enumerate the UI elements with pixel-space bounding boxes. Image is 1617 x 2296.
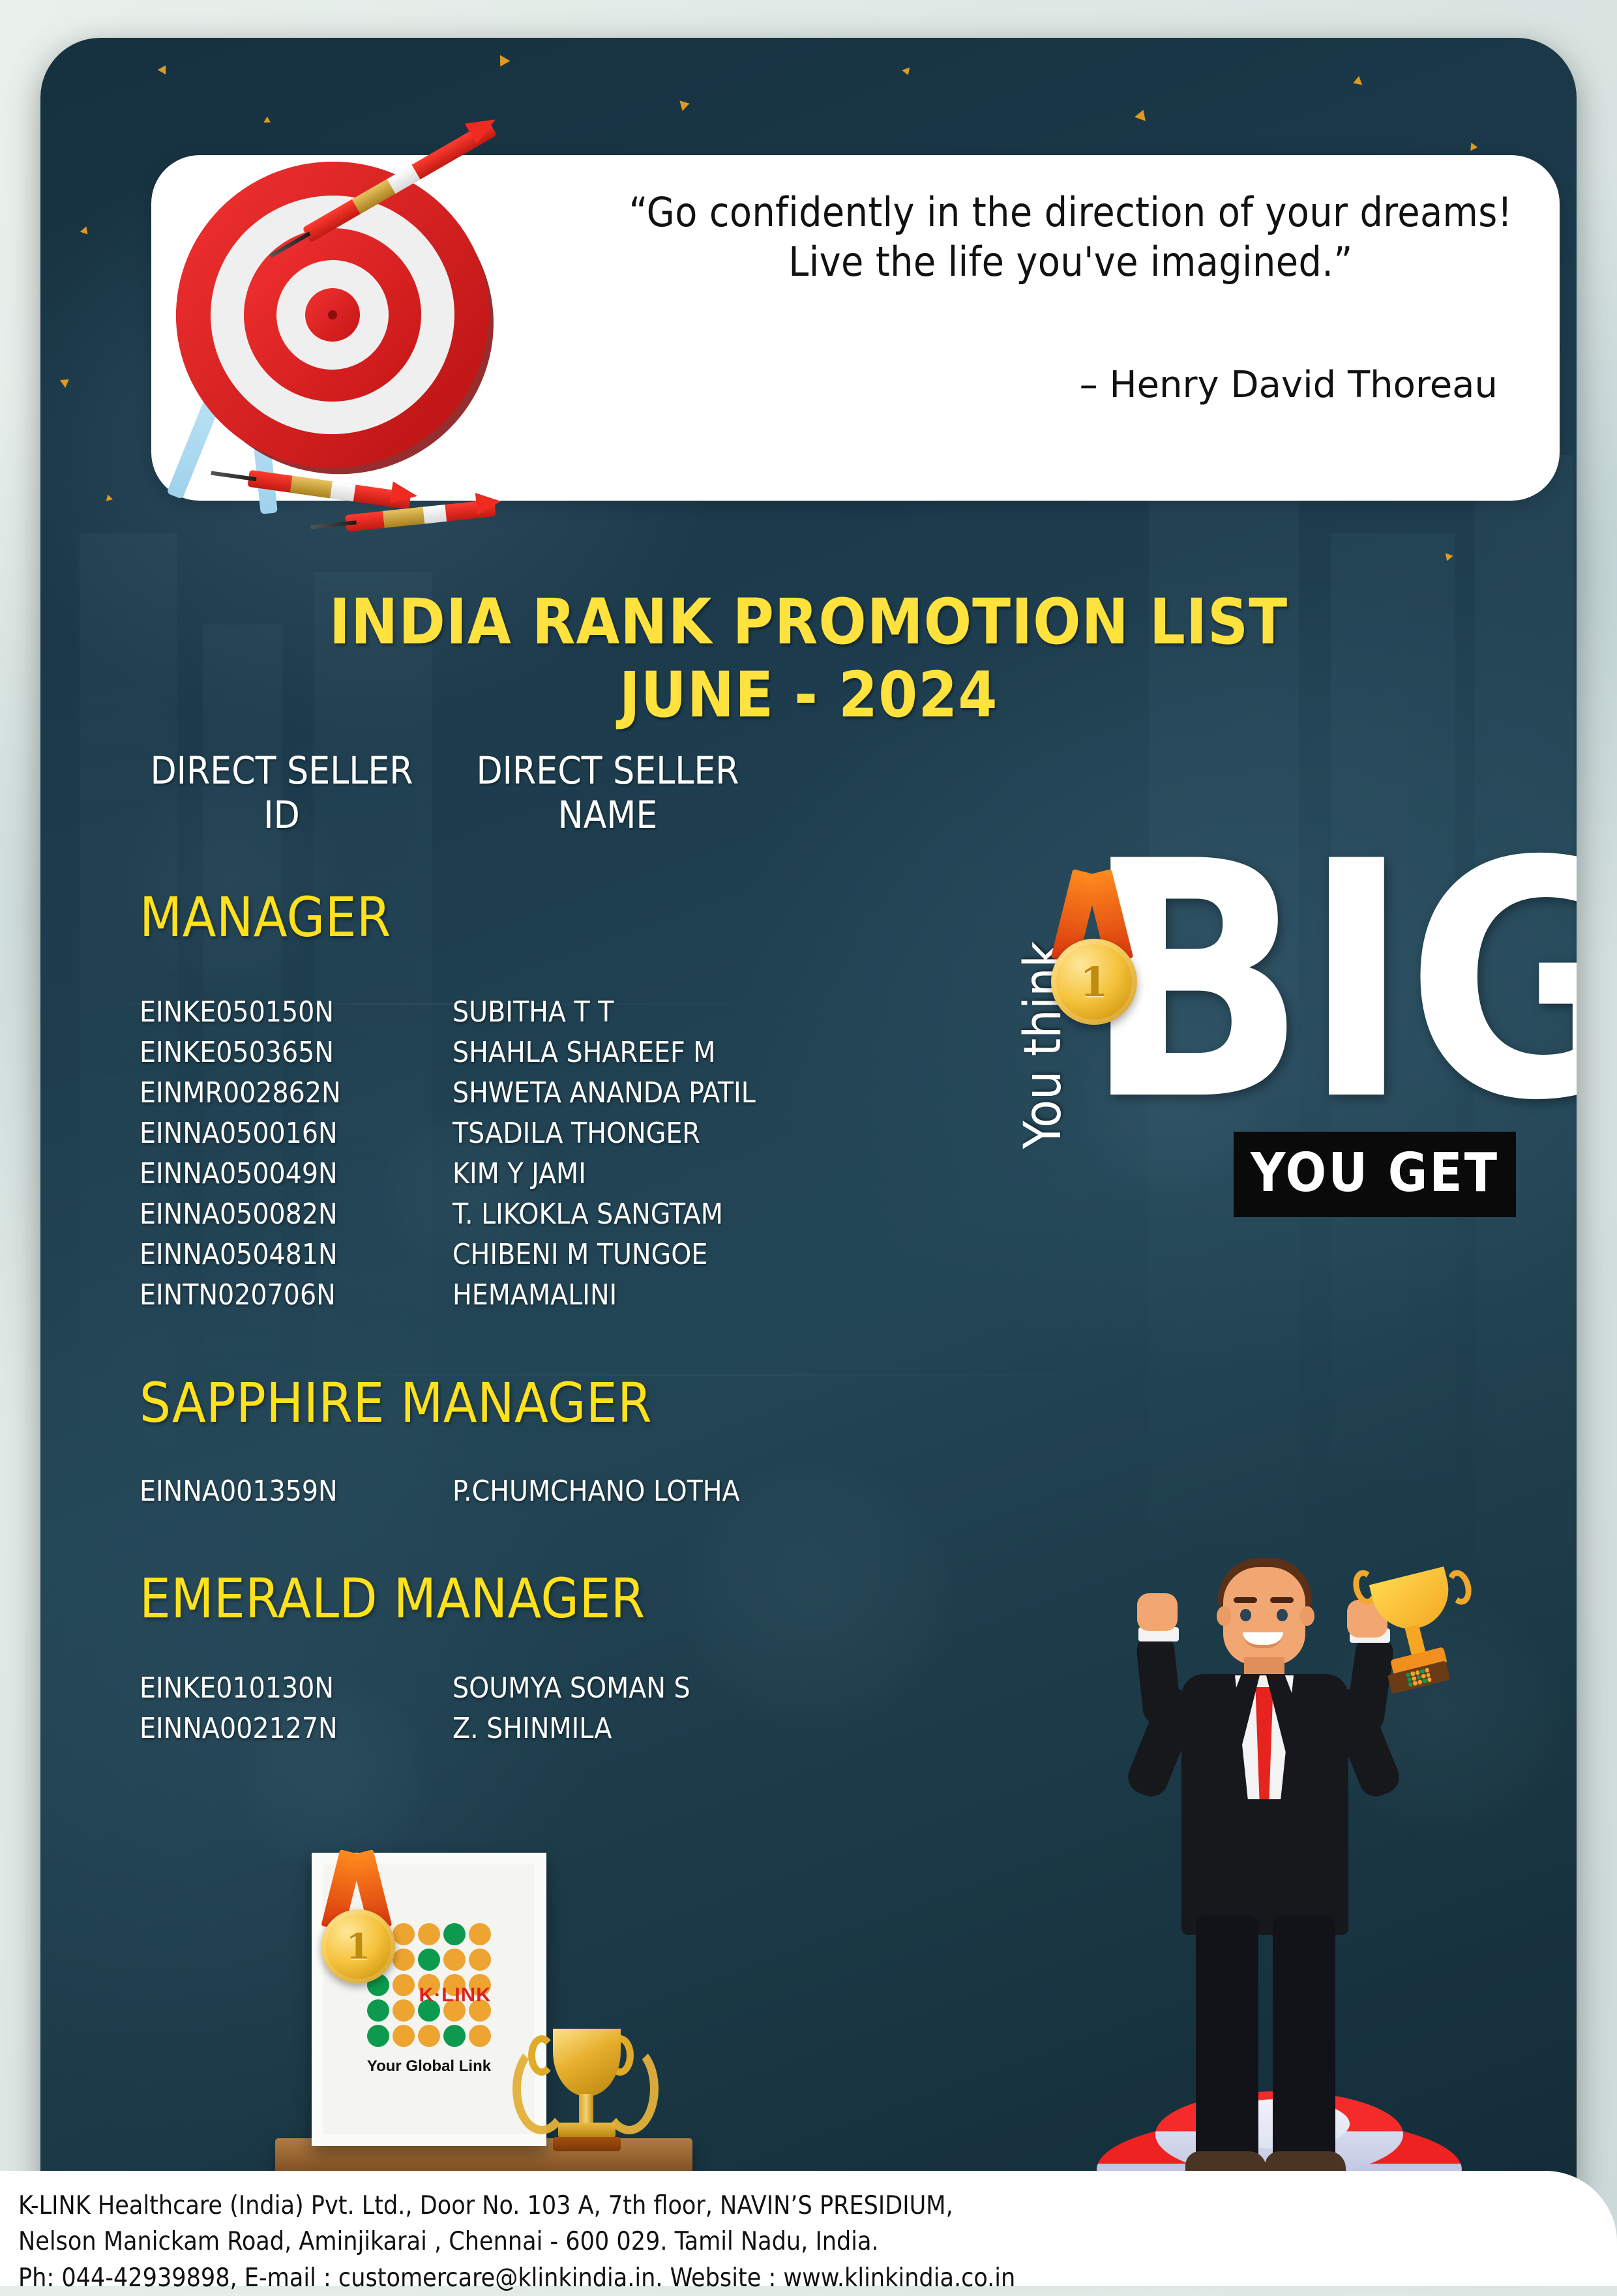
seller-name: Z. SHINMILA bbox=[452, 1712, 974, 1745]
eyebrow-left bbox=[1234, 1597, 1257, 1603]
leg-right bbox=[1273, 1915, 1335, 2163]
seller-id: EINNA001359N bbox=[140, 1475, 452, 1508]
column-header-id-line2: ID bbox=[138, 793, 425, 837]
table-row: EINNA050016N TSADILA THONGER bbox=[140, 1113, 987, 1153]
head bbox=[1223, 1567, 1305, 1665]
medal-number: 1 bbox=[1080, 958, 1108, 1006]
table-row: EINNA050481N CHIBENI M TUNGOE bbox=[140, 1234, 987, 1274]
dart-loose-2 bbox=[345, 499, 496, 532]
eye-right bbox=[1277, 1609, 1288, 1621]
seller-id: EINNA050016N bbox=[140, 1117, 452, 1150]
seller-name: SHWETA ANANDA PATIL bbox=[452, 1076, 974, 1110]
seller-id: EINKE050365N bbox=[140, 1036, 452, 1069]
column-header-name-line2: NAME bbox=[464, 793, 751, 837]
column-header-id-line1: DIRECT SELLER bbox=[138, 748, 425, 793]
dart-fin bbox=[475, 490, 502, 515]
quote-author: – Henry David Thoreau bbox=[780, 364, 1498, 406]
table-row: EINTN020706N HEMAMALINI bbox=[140, 1274, 987, 1315]
held-trophy-icon bbox=[1352, 1562, 1476, 1712]
eye-left bbox=[1240, 1609, 1251, 1621]
trophy-plinth bbox=[553, 2137, 621, 2151]
seller-name: CHIBENI M TUNGOE bbox=[452, 1238, 974, 1271]
arm-left-lower bbox=[1135, 1632, 1182, 1726]
column-header-name-line1: DIRECT SELLER bbox=[464, 748, 751, 793]
seller-name: T. LIKOKLA SANGTAM bbox=[452, 1198, 974, 1231]
gold-trophy-icon bbox=[516, 2020, 657, 2156]
page-subtitle: JUNE - 2024 bbox=[40, 658, 1577, 731]
seller-id: EINTN020706N bbox=[140, 1278, 452, 1312]
quote-text: “Go confidently in the direction of your… bbox=[621, 188, 1521, 286]
seller-id: EINKE050150N bbox=[140, 995, 452, 1029]
rank-table-emerald-manager: EINKE010130N SOUMYA SOMAN S EINNA002127N… bbox=[140, 1668, 987, 1748]
trophy-base bbox=[558, 2123, 616, 2138]
seller-name: HEMAMALINI bbox=[452, 1278, 974, 1312]
medal-disc: 1 bbox=[1051, 939, 1137, 1025]
confetti-piece bbox=[1470, 143, 1478, 151]
medal-number: 1 bbox=[346, 1926, 370, 1967]
dart-fin bbox=[390, 481, 419, 507]
quote-line-2: Live the life you've imagined.” bbox=[621, 237, 1521, 287]
table-row: EINNA050049N KIM Y JAMI bbox=[140, 1153, 987, 1194]
company-address: K-LINK Healthcare (India) Pvt. Ltd., Doo… bbox=[18, 2188, 1015, 2296]
award-display: K·LINK Your Global Link 1 bbox=[301, 1844, 666, 2183]
quote-line-1: “Go confidently in the direction of your… bbox=[621, 188, 1521, 237]
leg-left bbox=[1196, 1915, 1258, 2163]
footer-band: K-LINK Healthcare (India) Pvt. Ltd., Doo… bbox=[0, 2171, 1617, 2286]
seller-id: EINKE010130N bbox=[140, 1671, 452, 1705]
rank-table-manager: EINKE050150N SUBITHA T T EINKE050365N SH… bbox=[140, 992, 987, 1315]
seller-id: EINNA002127N bbox=[140, 1712, 452, 1745]
you-get-badge: YOU GET bbox=[1234, 1132, 1516, 1217]
you-get-text: YOU GET bbox=[1251, 1142, 1499, 1204]
table-row: EINNA050082N T. LIKOKLA SANGTAM bbox=[140, 1194, 987, 1234]
seller-id: EINNA050481N bbox=[140, 1238, 452, 1271]
seller-id: EINMR002862N bbox=[140, 1076, 452, 1110]
klink-wordmark: K·LINK bbox=[406, 1983, 504, 2007]
ear-right bbox=[1300, 1606, 1314, 1626]
gold-medal-icon: 1 bbox=[1026, 871, 1157, 1034]
ear-left bbox=[1217, 1606, 1231, 1626]
rank-heading-sapphire-manager: SAPPHIRE MANAGER bbox=[140, 1371, 652, 1435]
dartboard-target bbox=[166, 151, 499, 478]
table-row: EINKE010130N SOUMYA SOMAN S bbox=[140, 1668, 987, 1708]
big-word-text: BIG bbox=[1084, 819, 1577, 1145]
seller-id: EINNA050082N bbox=[140, 1198, 452, 1231]
table-row: EINKE050150N SUBITHA T T bbox=[140, 992, 987, 1032]
column-header-id: DIRECT SELLER ID bbox=[138, 748, 425, 838]
businessman-illustration bbox=[1058, 1524, 1514, 2209]
table-row: EINNA001359N P.CHUMCHANO LOTHA bbox=[140, 1471, 987, 1511]
contact-line: Ph: 044-42939898, E-mail : customercare@… bbox=[18, 2260, 1015, 2296]
seller-name: SUBITHA T T bbox=[452, 995, 974, 1029]
table-row: EINKE050365N SHAHLA SHAREEF M bbox=[140, 1032, 987, 1072]
rank-heading-emerald-manager: EMERALD MANAGER bbox=[140, 1567, 645, 1630]
seller-name: TSADILA THONGER bbox=[452, 1117, 974, 1150]
eyebrow-right bbox=[1270, 1597, 1294, 1603]
poster-panel: “Go confidently in the direction of your… bbox=[40, 38, 1577, 2248]
klink-tagline: Your Global Link bbox=[367, 2057, 491, 2076]
table-row: EINNA002127N Z. SHINMILA bbox=[140, 1708, 987, 1748]
rank-heading-manager: MANAGER bbox=[140, 885, 391, 949]
hand-left-fist bbox=[1137, 1593, 1178, 1631]
seller-name: KIM Y JAMI bbox=[452, 1157, 974, 1190]
address-line-1: K-LINK Healthcare (India) Pvt. Ltd., Doo… bbox=[18, 2188, 1015, 2224]
address-line-2: Nelson Manickam Road, Aminjikarai , Chen… bbox=[18, 2224, 1015, 2259]
table-row: EINMR002862N SHWETA ANANDA PATIL bbox=[140, 1072, 987, 1113]
rank-table-sapphire-manager: EINNA001359N P.CHUMCHANO LOTHA bbox=[140, 1471, 987, 1511]
seller-name: SOUMYA SOMAN S bbox=[452, 1671, 974, 1705]
trophy-handle-left bbox=[528, 2035, 556, 2076]
seller-name: SHAHLA SHAREEF M bbox=[452, 1036, 974, 1069]
frame-medal-icon: 1 bbox=[300, 1851, 412, 1992]
dartboard-illustration bbox=[150, 116, 554, 533]
seller-name: P.CHUMCHANO LOTHA bbox=[452, 1475, 974, 1508]
column-header-name: DIRECT SELLER NAME bbox=[464, 748, 751, 838]
seller-id: EINNA050049N bbox=[140, 1157, 452, 1190]
page-title: INDIA RANK PROMOTION LIST bbox=[40, 585, 1577, 658]
klink-mini-logo-icon bbox=[1406, 1668, 1432, 1686]
trophy-stem bbox=[579, 2094, 593, 2124]
medal-disc: 1 bbox=[321, 1909, 396, 1984]
